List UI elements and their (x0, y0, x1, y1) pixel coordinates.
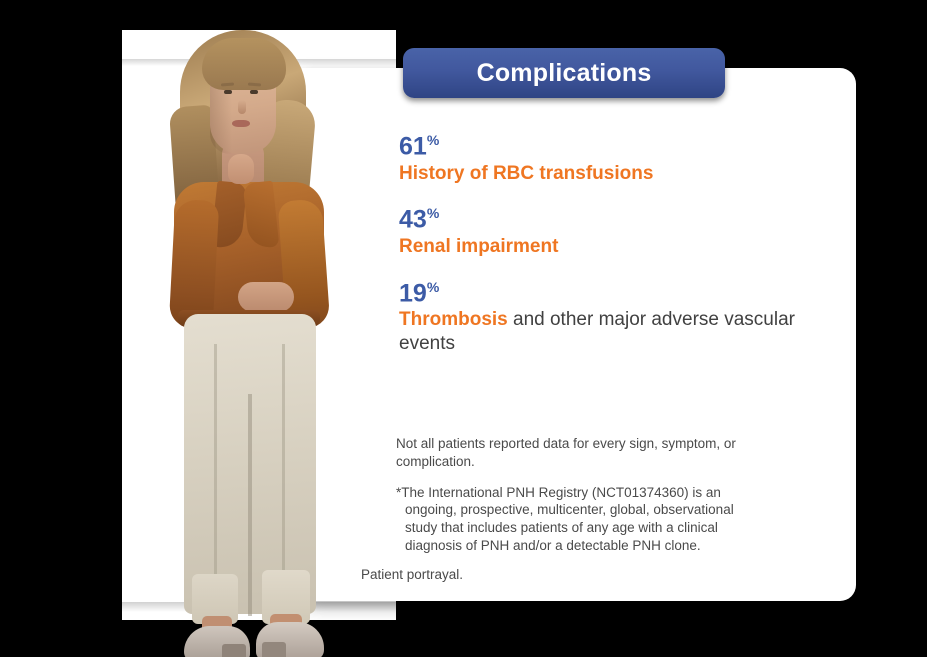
trouser-crease-left (214, 344, 217, 612)
stat-label: History of RBC transfusions (399, 162, 799, 186)
nose (238, 100, 246, 114)
stat-value: 19% (399, 280, 799, 307)
banner-title: Complications (477, 59, 652, 88)
section-header-banner: Complications (403, 48, 725, 98)
hand-raised (228, 154, 254, 184)
stat-item: 19% Thrombosis and other major adverse v… (399, 280, 799, 356)
footnote-patient-portrayal: Patient portrayal. (361, 567, 463, 582)
stat-item: 43% Renal impairment (399, 206, 799, 258)
statistics-list: 61% History of RBC transfusions 43% Rena… (399, 133, 799, 356)
slide-canvas: Complications 61% History of RBC transfu… (0, 0, 927, 657)
stat-value: 61% (399, 133, 799, 160)
stat-item: 61% History of RBC transfusions (399, 133, 799, 185)
footnotes: Not all patients reported data for every… (396, 435, 766, 568)
shoe-heel-right (262, 642, 286, 657)
stat-value: 43% (399, 206, 799, 233)
hair-fringe (202, 38, 286, 90)
footnote-registry: *The International PNH Registry (NCT0137… (396, 484, 766, 555)
patient-photo (122, 14, 402, 657)
percent-sign: % (427, 132, 439, 148)
stat-label: Thrombosis and other major adverse vascu… (399, 308, 799, 356)
eye-right (250, 90, 258, 94)
stat-label-highlight: Thrombosis (399, 309, 508, 330)
hands-clasped (238, 282, 294, 312)
footnote-data-note: Not all patients reported data for every… (396, 435, 766, 471)
trouser-split (248, 394, 252, 616)
mouth (232, 120, 250, 127)
percent-sign: % (427, 279, 439, 295)
stat-label: Renal impairment (399, 235, 799, 259)
shoe-heel-left (222, 644, 246, 657)
eye-left (224, 90, 232, 94)
percent-sign: % (427, 205, 439, 221)
